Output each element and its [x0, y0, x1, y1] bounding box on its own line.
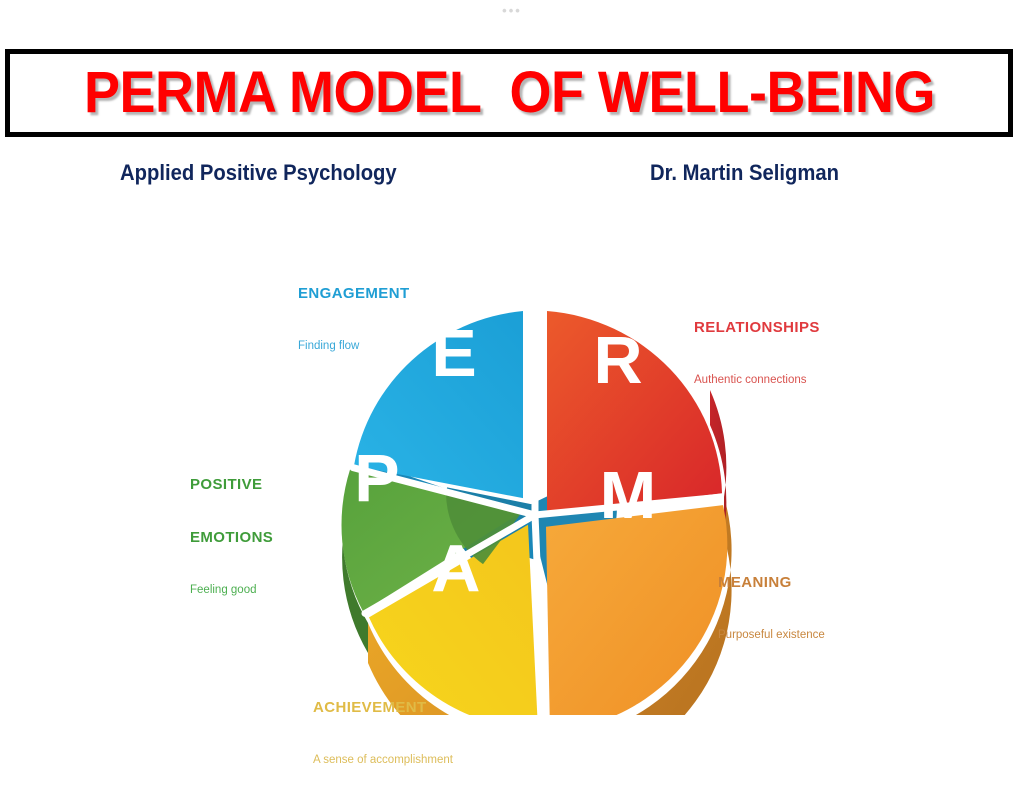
- callout-relationships: RELATIONSHIPS Authentic connections: [694, 283, 820, 423]
- slice-letter-e: E: [431, 316, 476, 390]
- callout-positive-emotions: POSITIVE EMOTIONS Feeling good: [190, 440, 273, 633]
- callout-engagement-title: ENGAGEMENT: [298, 285, 410, 302]
- slice-letter-p: P: [354, 442, 399, 516]
- callout-engagement-subtitle: Finding flow: [298, 339, 410, 353]
- slice-letter-a: A: [431, 532, 480, 606]
- callout-positive-subtitle: Feeling good: [190, 583, 273, 597]
- callout-relationships-title: RELATIONSHIPS: [694, 319, 820, 336]
- callout-achievement-subtitle: A sense of accomplishment: [313, 753, 453, 767]
- callout-achievement: ACHIEVEMENT A sense of accomplishment: [313, 663, 453, 803]
- subtitle-right: Dr. Martin Seligman: [650, 160, 839, 186]
- callout-meaning-title: MEANING: [718, 574, 825, 591]
- slice-letter-r: R: [593, 323, 642, 397]
- top-ellipsis-marker: •••: [0, 4, 1024, 17]
- callout-meaning: MEANING Purposeful existence: [718, 538, 825, 678]
- callout-positive-title-line2: EMOTIONS: [190, 529, 273, 546]
- callout-meaning-subtitle: Purposeful existence: [718, 628, 825, 642]
- slide-canvas: ••• PERMA MODEL OF WELL-BEING Applied Po…: [0, 0, 1024, 732]
- callout-achievement-title: ACHIEVEMENT: [313, 699, 453, 716]
- slice-letter-m: M: [600, 458, 657, 532]
- callout-relationships-subtitle: Authentic connections: [694, 373, 820, 387]
- subtitle-left: Applied Positive Psychology: [120, 160, 397, 186]
- callout-positive-title-line1: POSITIVE: [190, 476, 273, 493]
- callout-engagement: ENGAGEMENT Finding flow: [298, 249, 410, 389]
- page-title: PERMA MODEL OF WELL-BEING: [84, 63, 935, 123]
- title-box: PERMA MODEL OF WELL-BEING: [5, 49, 1013, 137]
